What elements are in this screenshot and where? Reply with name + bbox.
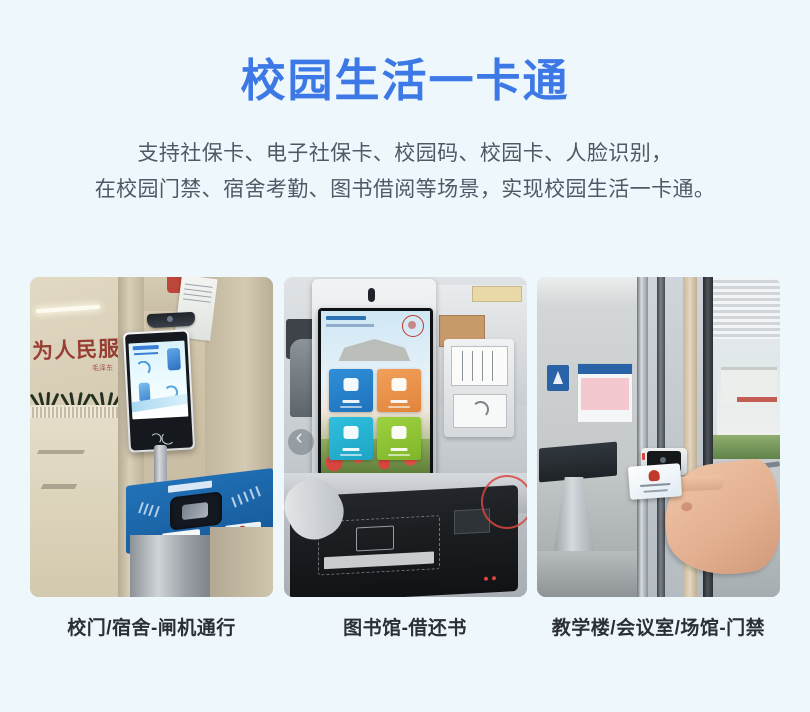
thumb-nail: [681, 502, 693, 512]
background-sign: [472, 286, 522, 302]
side-instruction-panel: [444, 339, 514, 437]
scenario-card-library-borrow[interactable]: 图书馆-借还书: [284, 277, 527, 640]
camera-hood-icon: [147, 312, 196, 328]
card-caption-gate-access: 校门/宿舍-闸机通行: [30, 613, 273, 640]
reader-status-led: [642, 453, 645, 460]
page-title: 校园生活一卡通: [0, 52, 810, 110]
status-led-2: [492, 576, 496, 580]
card-swipe-area[interactable]: [453, 394, 507, 428]
instruction-notice: [451, 346, 508, 386]
lobby-floor: [30, 418, 130, 597]
card-caption-library-borrow: 图书馆-借还书: [284, 613, 527, 640]
window-blinds: [713, 277, 780, 339]
door-frame-1: [637, 277, 648, 597]
library-seal-icon: [402, 315, 424, 337]
turnstile-brand-logo: [168, 480, 212, 492]
outdoor-view: [717, 357, 780, 437]
wall-slogan-text: 为人民服务: [32, 332, 121, 361]
chevron-left-icon: [288, 429, 314, 455]
turnstile-base-right: [210, 527, 273, 597]
face-recognition-terminal[interactable]: [123, 329, 195, 452]
book-icon: [356, 526, 394, 552]
photo-library-borrow: [284, 277, 527, 597]
photo-gate-access: 为人民服务 毛泽东: [30, 277, 273, 597]
archway-illustration: [339, 339, 411, 361]
kiosk-camera-icon: [368, 288, 375, 302]
page-subtitle: 支持社保卡、电子社保卡、校园码、校园卡、人脸识别， 在校园门禁、宿舍考勤、图书借…: [55, 136, 755, 208]
scenario-card-gate-access[interactable]: 为人民服务 毛泽东: [30, 277, 273, 640]
direction-sign-icon: [547, 365, 569, 391]
kiosk-screen-frame: [318, 308, 433, 476]
subtitle-line-1: 支持社保卡、电子社保卡、校园码、校园卡、人脸识别，: [55, 136, 755, 172]
reader-sensor-icon: [660, 457, 666, 463]
wall-slogan-signature: 毛泽东: [92, 363, 113, 373]
social-security-card[interactable]: [628, 463, 682, 500]
left-label: [140, 500, 162, 525]
subtitle-line-2: 在校园门禁、宿舍考勤、图书借阅等场景，实现校园生活一卡通。: [55, 172, 755, 208]
card-caption-building-door-access: 教学楼/会议室/场馆-门禁: [537, 613, 780, 640]
kiosk-tile-renew[interactable]: [377, 417, 421, 460]
scenario-card-building-door-access[interactable]: 教学楼/会议室/场馆-门禁: [537, 277, 780, 640]
national-emblem-icon: [648, 470, 660, 482]
terminal-pole: [154, 445, 167, 485]
page-header: 校园生活一卡通 支持社保卡、电子社保卡、校园码、校园卡、人脸识别， 在校园门禁、…: [0, 0, 810, 208]
reception-counter: [539, 442, 617, 483]
wall-poster: [577, 363, 633, 423]
scenario-card-list: 为人民服务 毛泽东: [30, 277, 780, 640]
terminal-screen: [128, 341, 188, 420]
kiosk-screen[interactable]: [321, 311, 430, 473]
indoor-ceiling: [537, 277, 642, 307]
turnstile-base: [130, 535, 210, 597]
kiosk-tile-query[interactable]: [329, 417, 373, 460]
nfc-wave-icon: [148, 430, 175, 445]
kiosk-tile-borrow[interactable]: [329, 369, 373, 412]
kiosk-tile-return[interactable]: [377, 369, 421, 412]
photo-building-door-access: [537, 277, 780, 597]
promo-page: 校园生活一卡通 支持社保卡、电子社保卡、校园码、校园卡、人脸识别， 在校园门禁、…: [0, 0, 810, 712]
right-label: [233, 487, 263, 513]
door-frame-2: [657, 277, 665, 597]
indoor-floor: [537, 551, 642, 597]
status-led-1: [484, 577, 488, 581]
scan-pad[interactable]: [170, 491, 222, 530]
